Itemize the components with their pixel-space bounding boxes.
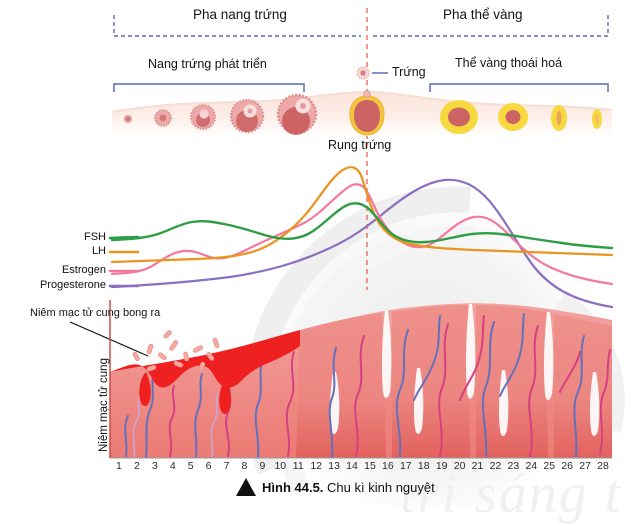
legend-label-fsh: FSH [62, 232, 106, 243]
caption-text: Chu kì kinh nguyệt [327, 480, 435, 495]
day-tick-11: 11 [289, 461, 307, 472]
released-egg-icon [357, 67, 388, 79]
day-tick-3: 3 [146, 461, 164, 472]
day-tick-25: 25 [540, 461, 558, 472]
day-tick-15: 15 [361, 461, 379, 472]
follicle-bracket [114, 84, 304, 92]
day-tick-5: 5 [182, 461, 200, 472]
endometrium-illustration [110, 303, 612, 458]
shedding-label: Niêm mạc tử cung bong ra [30, 308, 160, 319]
day-tick-17: 17 [397, 461, 415, 472]
day-tick-8: 8 [236, 461, 254, 472]
caption-triangle-icon [236, 478, 256, 496]
day-tick-19: 19 [433, 461, 451, 472]
legend-label-lh: LH [62, 246, 106, 257]
corpus-luteum-label: Thể vàng thoái hoá [455, 57, 562, 70]
day-tick-27: 27 [576, 461, 594, 472]
egg-label: Trứng [392, 66, 426, 79]
shedding-leader-line [70, 322, 148, 356]
day-tick-14: 14 [343, 461, 361, 472]
day-tick-18: 18 [415, 461, 433, 472]
day-tick-2: 2 [128, 461, 146, 472]
follicle-development-label: Nang trứng phát triển [148, 58, 267, 71]
day-tick-22: 22 [487, 461, 505, 472]
day-tick-21: 21 [469, 461, 487, 472]
figure-caption: Hình 44.5. Chu kì kinh nguyệt [262, 481, 435, 494]
day-tick-13: 13 [325, 461, 343, 472]
day-tick-16: 16 [379, 461, 397, 472]
phase-label-luteal: Pha thể vàng [443, 8, 523, 22]
day-tick-24: 24 [522, 461, 540, 472]
day-tick-23: 23 [504, 461, 522, 472]
day-tick-4: 4 [164, 461, 182, 472]
endometrium-axis-label: Niêm mạc tử cung [98, 358, 110, 452]
caption-number: Hình 44.5. [262, 480, 323, 495]
day-tick-1: 1 [110, 461, 128, 472]
day-tick-7: 7 [218, 461, 236, 472]
day-tick-9: 9 [253, 461, 271, 472]
day-tick-6: 6 [200, 461, 218, 472]
day-tick-10: 10 [271, 461, 289, 472]
ovulation-label: Rụng trứng [328, 139, 391, 152]
legend-label-progesterone: Progesterone [2, 280, 106, 291]
legend-label-estrogen: Estrogen [26, 265, 106, 276]
day-tick-20: 20 [451, 461, 469, 472]
corpus-luteum-bracket [430, 84, 608, 92]
phase-label-follicular: Pha nang trứng [193, 8, 287, 22]
day-tick-12: 12 [307, 461, 325, 472]
day-tick-26: 26 [558, 461, 576, 472]
day-tick-28: 28 [594, 461, 612, 472]
